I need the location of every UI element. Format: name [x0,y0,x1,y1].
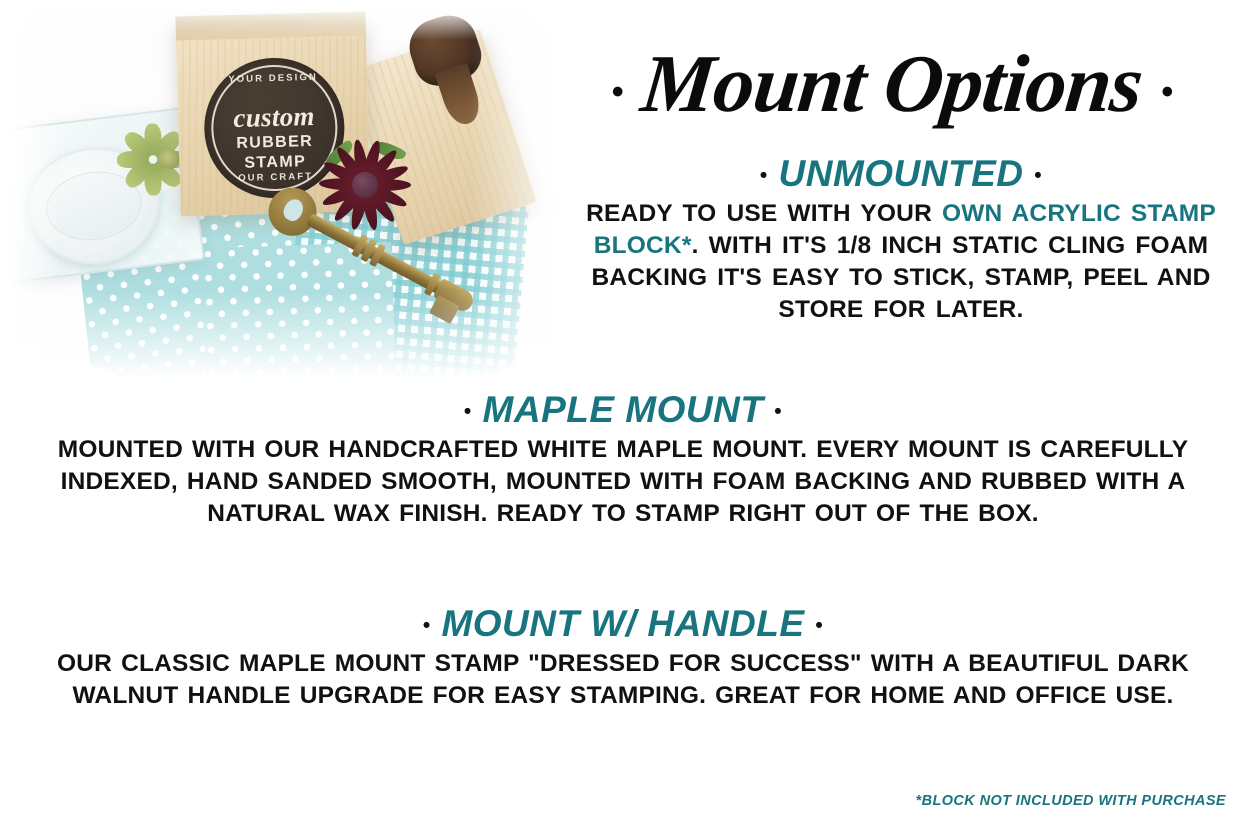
heading-text: UNMOUNTED [779,153,1024,194]
heading-text: MOUNT W/ HANDLE [441,603,804,644]
heading-bullet-left: • [464,400,472,423]
page-title: • Mount Options • [556,34,1228,134]
section-unmounted-body: READY TO USE WITH YOUR OWN ACRYLIC STAMP… [572,198,1230,326]
section-mount-with-handle: • MOUNT W/ HANDLE • OUR CLASSIC MAPLE MO… [30,602,1216,712]
heading-text: MAPLE MOUNT [483,389,764,430]
body-text: OUR CLASSIC MAPLE MOUNT STAMP "DRESSED F… [57,650,1189,709]
section-maple-mount-body: MOUNTED WITH OUR HANDCRAFTED WHITE MAPLE… [30,434,1216,530]
logo-arc-top: YOUR DESIGN [203,71,343,86]
body-text: MOUNTED WITH OUR HANDCRAFTED WHITE MAPLE… [58,436,1189,527]
footnote-disclaimer: *BLOCK NOT INCLUDED WITH PURCHASE [916,793,1226,809]
heading-bullet-right: • [815,614,823,637]
section-mount-with-handle-heading: • MOUNT W/ HANDLE • [30,602,1216,648]
heading-bullet-left: • [760,164,768,187]
heading-bullet-right: • [1034,164,1042,187]
section-unmounted: • UNMOUNTED • READY TO USE WITH YOUR OWN… [572,152,1230,326]
heading-bullet-right: • [774,400,782,423]
title-bullet-left: • [612,73,623,111]
section-maple-mount-heading: • MAPLE MOUNT • [30,388,1216,434]
heading-bullet-left: • [423,614,431,637]
page-title-text: Mount Options [637,34,1147,134]
title-bullet-right: • [1161,73,1172,111]
section-maple-mount: • MAPLE MOUNT • MOUNTED WITH OUR HANDCRA… [30,388,1216,530]
body-text: READY TO USE WITH YOUR [586,200,942,227]
product-photo: YOUR DESIGN custom RUBBER STAMP OUR CRAF… [0,0,600,400]
photo-fade-bottom [0,290,600,400]
section-unmounted-heading: • UNMOUNTED • [572,152,1230,198]
section-mount-with-handle-body: OUR CLASSIC MAPLE MOUNT STAMP "DRESSED F… [30,648,1216,712]
logo-word-custom: custom [204,100,345,135]
mount-options-infographic: YOUR DESIGN custom RUBBER STAMP OUR CRAF… [0,0,1244,829]
